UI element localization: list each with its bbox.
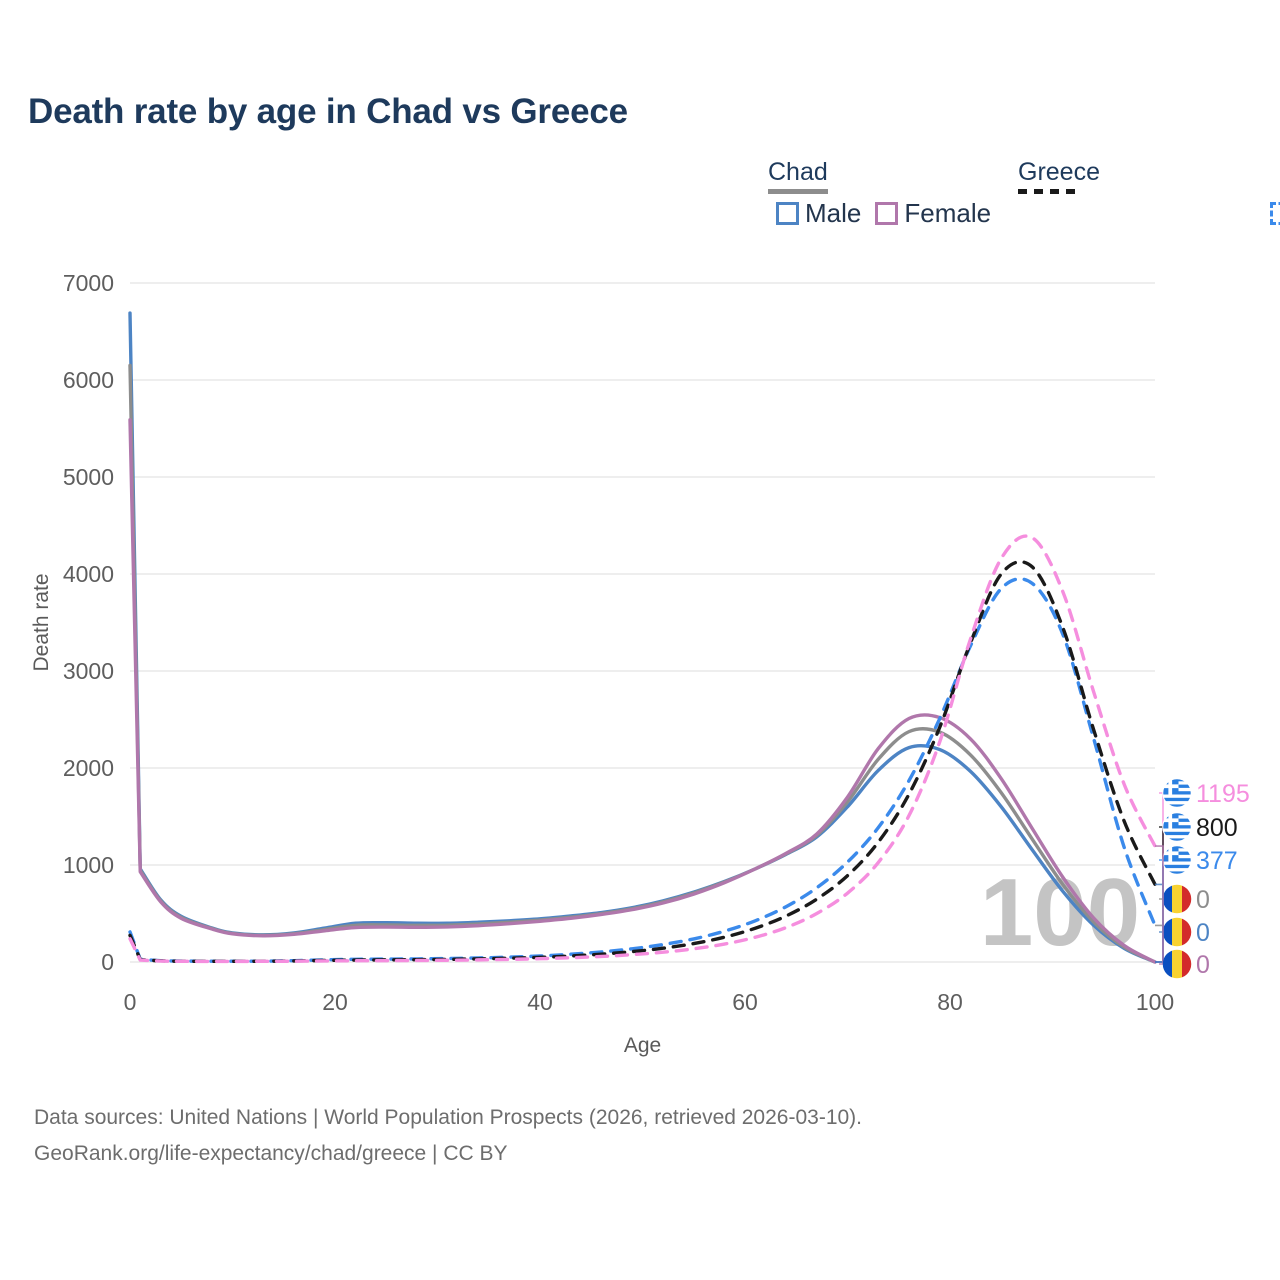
greece-flag-icon	[1162, 812, 1192, 842]
chad-flag-icon	[1162, 917, 1192, 947]
chart-page: Death rate by age in Chad vs Greece Chad…	[0, 0, 1280, 1280]
x-axis-tick-label: 100	[1136, 989, 1174, 1015]
footer-line-2: GeoRank.org/life-expectancy/chad/greece …	[34, 1136, 862, 1172]
end-label-value: 800	[1196, 814, 1238, 842]
x-axis-title: Age	[624, 1034, 661, 1057]
chad-flag-icon	[1162, 884, 1192, 914]
chart-plot: 0100020003000400050006000700010002040608…	[0, 0, 1280, 1080]
end-label-value: 377	[1196, 847, 1238, 875]
x-axis-tick-label: 40	[527, 989, 553, 1015]
end-label-leader	[1155, 899, 1163, 925]
end-label-leader	[1155, 846, 1163, 964]
x-axis-tick-label: 20	[322, 989, 348, 1015]
end-label-value: 1195	[1196, 780, 1250, 808]
end-label-value: 0	[1196, 919, 1210, 947]
y-axis-tick-label: 0	[101, 949, 114, 975]
y-axis-tick-label: 1000	[63, 852, 114, 878]
end-label-leader	[1155, 793, 1163, 962]
y-axis-tick-label: 2000	[63, 755, 114, 781]
end-label-leader	[1155, 827, 1163, 962]
footer-line-1: Data sources: United Nations | World Pop…	[34, 1100, 862, 1136]
y-axis-title: Death rate	[30, 573, 53, 671]
greece-flag-icon	[1162, 778, 1192, 808]
y-axis-tick-label: 7000	[63, 270, 114, 296]
chad-flag-icon	[1162, 949, 1192, 979]
end-label-value: 0	[1196, 951, 1210, 979]
y-axis-tick-label: 3000	[63, 658, 114, 684]
end-label-value: 0	[1196, 886, 1210, 914]
footer-credits: Data sources: United Nations | World Pop…	[34, 1100, 862, 1172]
greece-flag-icon	[1162, 845, 1192, 875]
x-axis-tick-label: 0	[124, 989, 137, 1015]
end-label-leader	[1155, 860, 1163, 962]
x-axis-tick-label: 60	[732, 989, 758, 1015]
x-axis-tick-label: 80	[937, 989, 963, 1015]
y-axis-tick-label: 6000	[63, 367, 114, 393]
y-axis-tick-label: 5000	[63, 464, 114, 490]
y-axis-tick-label: 4000	[63, 561, 114, 587]
